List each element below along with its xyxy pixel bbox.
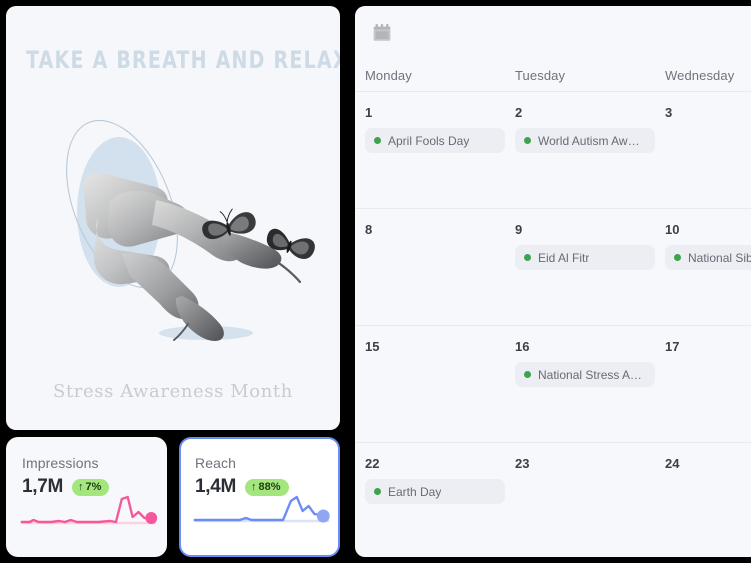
event-dot-icon — [524, 254, 531, 261]
day-number: 17 — [665, 340, 751, 353]
calendar-event[interactable]: National Stress Aw… — [515, 362, 655, 387]
event-label: National Stress Aw… — [538, 368, 646, 382]
calendar-week-row: 1 April Fools Day 2 World Autism Awar… 3 — [355, 92, 751, 209]
calendar-event[interactable]: World Autism Awar… — [515, 128, 655, 153]
event-label: National Sib… — [688, 251, 751, 265]
day-number: 8 — [365, 223, 515, 236]
calendar-day-cell[interactable]: 3 — [665, 92, 751, 208]
calendar-event[interactable]: Eid Al Fitr — [515, 245, 655, 270]
event-label: World Autism Awar… — [538, 134, 646, 148]
event-dot-icon — [674, 254, 681, 261]
day-number: 24 — [665, 457, 751, 470]
calendar-day-cell[interactable]: 15 — [365, 326, 515, 442]
poster-caption: Stress Awareness Month — [6, 381, 340, 402]
day-number: 2 — [515, 106, 665, 119]
calendar-icon[interactable] — [371, 22, 393, 44]
calendar-event[interactable]: Earth Day — [365, 479, 505, 504]
day-header-tuesday: Tuesday — [515, 68, 665, 83]
calendar-day-cell[interactable]: 8 — [365, 209, 515, 325]
calendar-panel: Monday Tuesday Wednesday 1 April Fools D… — [355, 6, 751, 557]
sparkline-reach — [181, 487, 338, 533]
calendar-day-cell[interactable]: 24 — [665, 443, 751, 557]
poster-artwork — [6, 84, 340, 354]
day-number: 1 — [365, 106, 515, 119]
day-number: 9 — [515, 223, 665, 236]
poster-panel[interactable]: TAKE A BREATH AND RELAX — [6, 6, 340, 430]
event-dot-icon — [524, 137, 531, 144]
poster-title: TAKE A BREATH AND RELAX — [26, 46, 320, 74]
calendar-day-cell[interactable]: 1 April Fools Day — [365, 92, 515, 208]
stat-card-reach[interactable]: Reach 1,4M ↑ 88% — [179, 437, 340, 557]
calendar-day-headers: Monday Tuesday Wednesday — [355, 60, 751, 92]
event-dot-icon — [524, 371, 531, 378]
stat-label-reach: Reach — [195, 455, 324, 471]
calendar-week-row: 15 16 National Stress Aw… 17 — [355, 326, 751, 443]
day-number: 3 — [665, 106, 751, 119]
day-number: 15 — [365, 340, 515, 353]
stats-row: Impressions 1,7M ↑ 7% — [6, 437, 340, 557]
day-number: 23 — [515, 457, 665, 470]
calendar-toolbar — [355, 6, 751, 60]
calendar-day-cell[interactable]: 16 National Stress Aw… — [515, 326, 665, 442]
event-label: Eid Al Fitr — [538, 251, 589, 265]
calendar-event[interactable]: National Sib… — [665, 245, 751, 270]
left-column: TAKE A BREATH AND RELAX — [6, 6, 340, 557]
calendar-event[interactable]: April Fools Day — [365, 128, 505, 153]
event-label: April Fools Day — [388, 134, 469, 148]
event-dot-icon — [374, 137, 381, 144]
calendar-day-cell[interactable]: 22 Earth Day — [365, 443, 515, 557]
calendar-day-cell[interactable]: 17 — [665, 326, 751, 442]
stat-label-impressions: Impressions — [22, 455, 151, 471]
day-header-wednesday: Wednesday — [665, 68, 751, 83]
calendar-day-cell[interactable]: 10 National Sib… — [665, 209, 751, 325]
calendar-day-cell[interactable]: 9 Eid Al Fitr — [515, 209, 665, 325]
calendar-day-cell[interactable]: 2 World Autism Awar… — [515, 92, 665, 208]
sparkline-impressions — [8, 487, 165, 533]
day-number: 16 — [515, 340, 665, 353]
event-label: Earth Day — [388, 485, 441, 499]
event-dot-icon — [374, 488, 381, 495]
day-number: 10 — [665, 223, 751, 236]
day-header-monday: Monday — [365, 68, 515, 83]
calendar-week-row: 8 9 Eid Al Fitr 10 National Sib… — [355, 209, 751, 326]
app-screen: TAKE A BREATH AND RELAX — [0, 0, 751, 563]
calendar-day-cell[interactable]: 23 — [515, 443, 665, 557]
day-number: 22 — [365, 457, 515, 470]
calendar-week-row: 22 Earth Day 23 24 — [355, 443, 751, 557]
stat-card-impressions[interactable]: Impressions 1,7M ↑ 7% — [6, 437, 167, 557]
